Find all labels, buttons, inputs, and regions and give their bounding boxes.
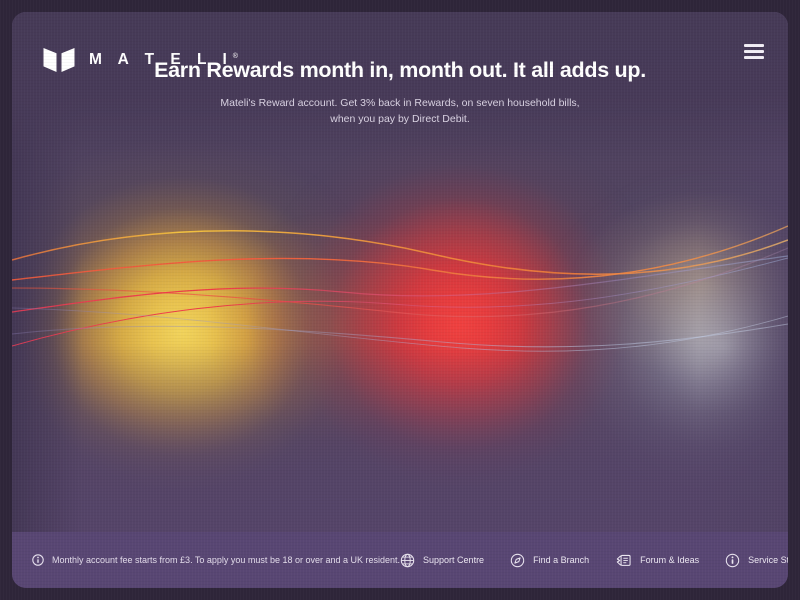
hero-copy: Earn Rewards month in, month out. It all… (12, 58, 788, 127)
footer-link-find-a-branch[interactable]: Find a Branch (510, 553, 589, 568)
page-panel: M A T E L I® Earn Rewards month in, mont… (12, 12, 788, 588)
menu-line-1 (744, 44, 764, 47)
page-title: Earn Rewards month in, month out. It all… (102, 58, 698, 84)
footer-link-service-status[interactable]: Service Status (725, 553, 788, 568)
globe-grid-icon (400, 553, 415, 568)
footer-bar: Monthly account fee starts from £3. To a… (12, 532, 788, 588)
page-subtitle-line-1: Mateli's Reward account. Get 3% back in … (220, 97, 579, 109)
footer-link-label: Service Status (748, 555, 788, 565)
footer-inner: Monthly account fee starts from £3. To a… (12, 532, 788, 588)
footer-link-label: Find a Branch (533, 555, 589, 565)
menu-line-2 (744, 50, 764, 53)
footer-link-label: Forum & Ideas (640, 555, 699, 565)
footer-link-label: Support Centre (423, 555, 484, 565)
footer-links: Support Centre Find a Branch (400, 553, 788, 568)
footer-disclaimer-text: Monthly account fee starts from £3. To a… (52, 555, 400, 565)
footer-disclaimer: Monthly account fee starts from £3. To a… (32, 554, 400, 566)
footer-link-support-centre[interactable]: Support Centre (400, 553, 484, 568)
footer-link-forum-and-ideas[interactable]: Forum & Ideas (615, 553, 699, 568)
page-subtitle-line-2: when you pay by Direct Debit. (330, 113, 469, 125)
page-subtitle: Mateli's Reward account. Get 3% back in … (102, 95, 698, 128)
speech-bubble-icon (615, 553, 632, 568)
info-circle-icon (725, 553, 740, 568)
compass-icon (510, 553, 525, 568)
info-circle-icon (32, 554, 44, 566)
app-window: M A T E L I® Earn Rewards month in, mont… (0, 0, 800, 600)
